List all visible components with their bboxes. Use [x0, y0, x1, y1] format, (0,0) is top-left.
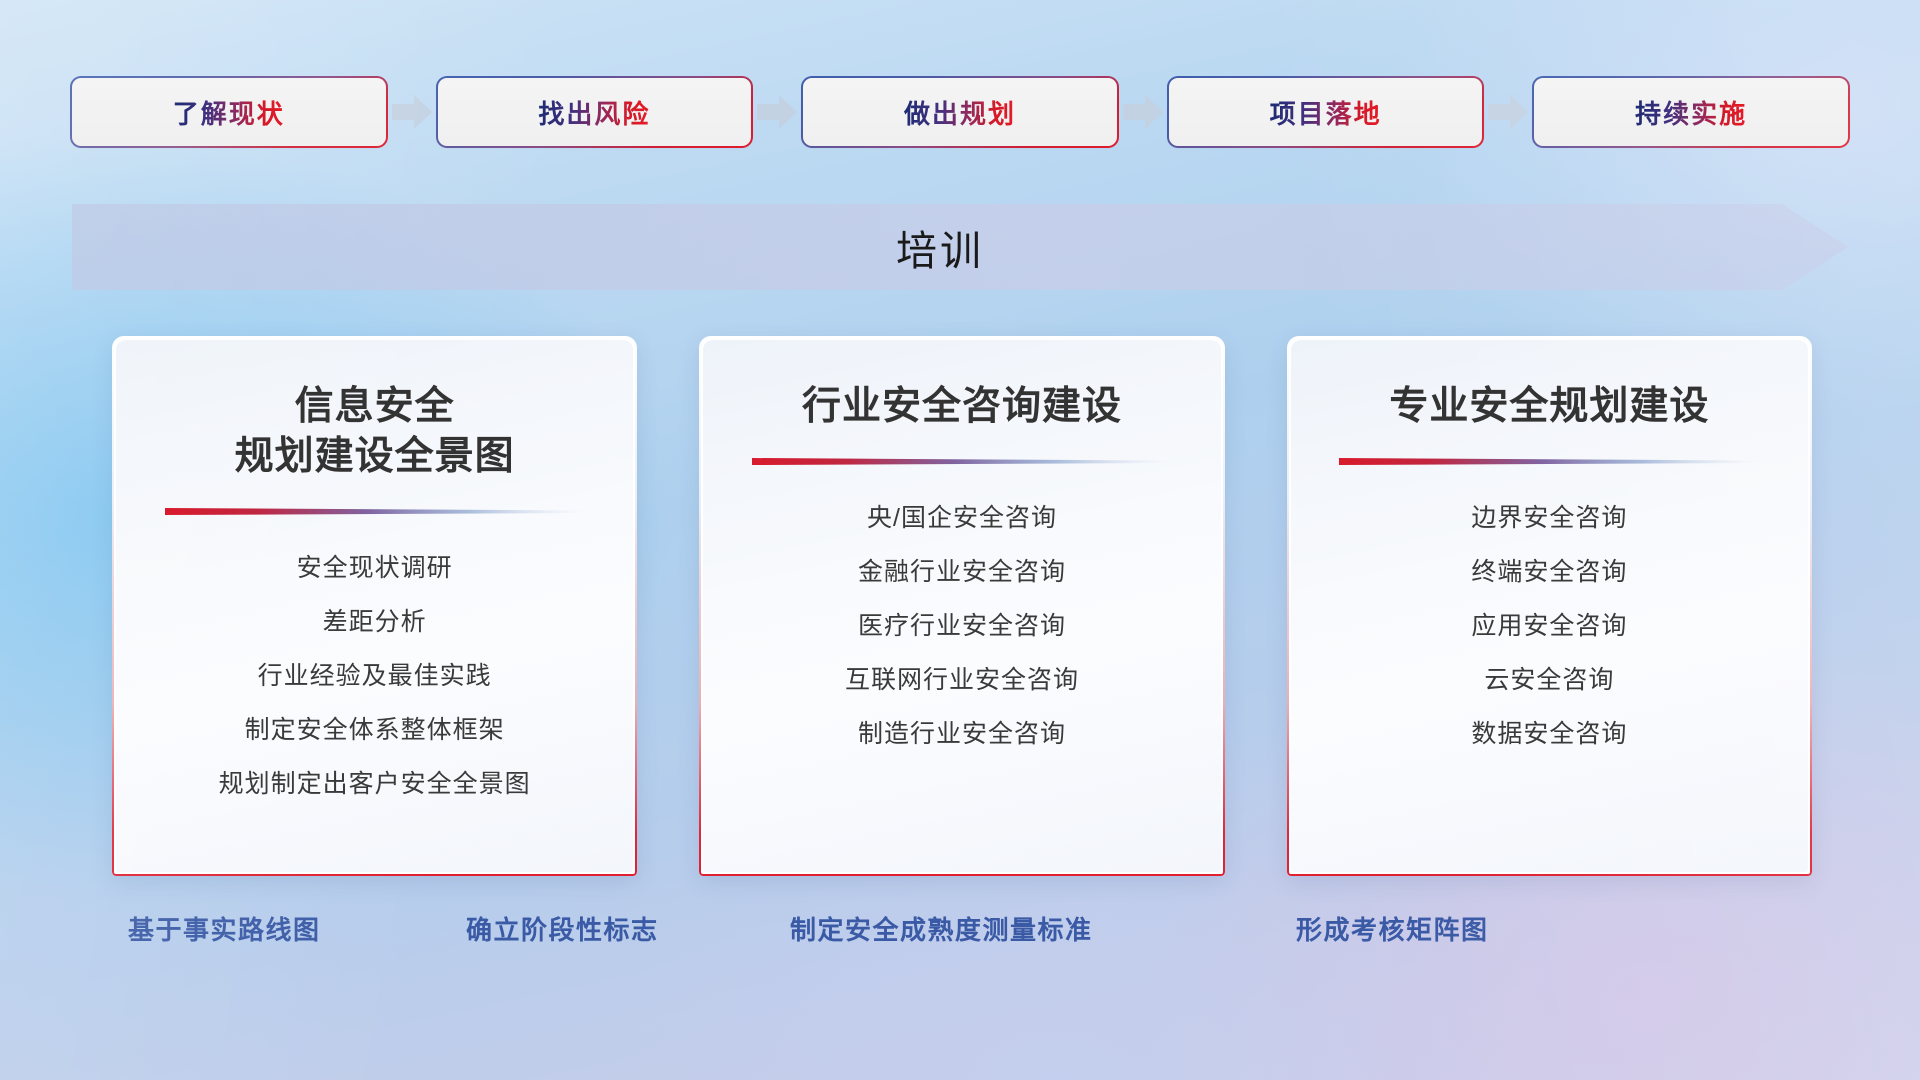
training-banner: 培训 — [72, 204, 1848, 290]
banner-title: 培训 — [72, 204, 1848, 290]
footnote-label-2: 确立阶段性标志 — [466, 910, 659, 947]
card-divider — [165, 506, 585, 518]
process-step-3[interactable]: 做出规划 — [803, 78, 1117, 146]
card-content: 专业安全规划建设边界安全咨询终端安全咨询应用安全咨询云安全咨询数据安全咨询 — [1287, 336, 1812, 876]
process-step-row: 了解现状找出风险做出规划项目落地持续实施 — [72, 78, 1848, 146]
footnote-label-4: 形成考核矩阵图 — [1296, 910, 1489, 947]
process-step-5[interactable]: 持续实施 — [1534, 78, 1848, 146]
service-card-row: 信息安全 规划建设全景图安全现状调研差距分析行业经验及最佳实践制定安全体系整体框… — [112, 336, 1812, 876]
card-list-item[interactable]: 金融行业安全咨询 — [858, 552, 1066, 588]
card-list-item[interactable]: 医疗行业安全咨询 — [858, 606, 1066, 642]
card-list-item[interactable]: 边界安全咨询 — [1471, 498, 1627, 534]
card-list-item[interactable]: 央/国企安全咨询 — [867, 498, 1057, 534]
arrow-right-icon — [1482, 90, 1534, 134]
card-divider — [752, 456, 1172, 468]
process-step-1[interactable]: 了解现状 — [72, 78, 386, 146]
card-item-list: 边界安全咨询终端安全咨询应用安全咨询云安全咨询数据安全咨询 — [1471, 498, 1627, 750]
card-list-item[interactable]: 行业经验及最佳实践 — [258, 656, 492, 692]
process-step-label: 持续实施 — [1635, 94, 1747, 131]
card-list-item[interactable]: 终端安全咨询 — [1471, 552, 1627, 588]
card-list-item[interactable]: 安全现状调研 — [297, 548, 453, 584]
service-card-1[interactable]: 信息安全 规划建设全景图安全现状调研差距分析行业经验及最佳实践制定安全体系整体框… — [112, 336, 637, 876]
card-title: 信息安全 规划建设全景图 — [235, 382, 515, 482]
process-step-label: 了解现状 — [173, 94, 285, 131]
card-list-item[interactable]: 互联网行业安全咨询 — [845, 660, 1079, 696]
card-content: 行业安全咨询建设央/国企安全咨询金融行业安全咨询医疗行业安全咨询互联网行业安全咨… — [699, 336, 1224, 876]
footnote-row: 基于事实路线图确立阶段性标志制定安全成熟度测量标准形成考核矩阵图 — [0, 910, 1920, 960]
arrow-right-icon — [386, 90, 438, 134]
process-step-label: 做出规划 — [904, 94, 1016, 131]
card-title: 专业安全规划建设 — [1389, 382, 1709, 432]
service-card-2[interactable]: 行业安全咨询建设央/国企安全咨询金融行业安全咨询医疗行业安全咨询互联网行业安全咨… — [699, 336, 1224, 876]
footnote-label-3: 制定安全成熟度测量标准 — [790, 910, 1093, 947]
card-list-item[interactable]: 差距分析 — [323, 602, 427, 638]
arrow-right-icon — [751, 90, 803, 134]
footnote-label-1: 基于事实路线图 — [128, 910, 321, 947]
card-content: 信息安全 规划建设全景图安全现状调研差距分析行业经验及最佳实践制定安全体系整体框… — [112, 336, 637, 876]
card-list-item[interactable]: 规划制定出客户安全全景图 — [219, 764, 531, 800]
card-list-item[interactable]: 数据安全咨询 — [1471, 714, 1627, 750]
process-step-2[interactable]: 找出风险 — [438, 78, 752, 146]
infographic-canvas: 了解现状找出风险做出规划项目落地持续实施 培训 信息安全 规划建设全景图安全现状… — [0, 0, 1920, 1080]
card-item-list: 央/国企安全咨询金融行业安全咨询医疗行业安全咨询互联网行业安全咨询制造行业安全咨… — [845, 498, 1079, 750]
process-step-4[interactable]: 项目落地 — [1169, 78, 1483, 146]
card-title: 行业安全咨询建设 — [802, 382, 1122, 432]
card-list-item[interactable]: 云安全咨询 — [1484, 660, 1614, 696]
card-item-list: 安全现状调研差距分析行业经验及最佳实践制定安全体系整体框架规划制定出客户安全全景… — [219, 548, 531, 800]
process-step-label: 找出风险 — [538, 94, 650, 131]
card-divider — [1339, 456, 1759, 468]
card-list-item[interactable]: 应用安全咨询 — [1471, 606, 1627, 642]
card-list-item[interactable]: 制造行业安全咨询 — [858, 714, 1066, 750]
card-list-item[interactable]: 制定安全体系整体框架 — [245, 710, 505, 746]
service-card-3[interactable]: 专业安全规划建设边界安全咨询终端安全咨询应用安全咨询云安全咨询数据安全咨询 — [1287, 336, 1812, 876]
process-step-label: 项目落地 — [1270, 94, 1382, 131]
arrow-right-icon — [1117, 90, 1169, 134]
